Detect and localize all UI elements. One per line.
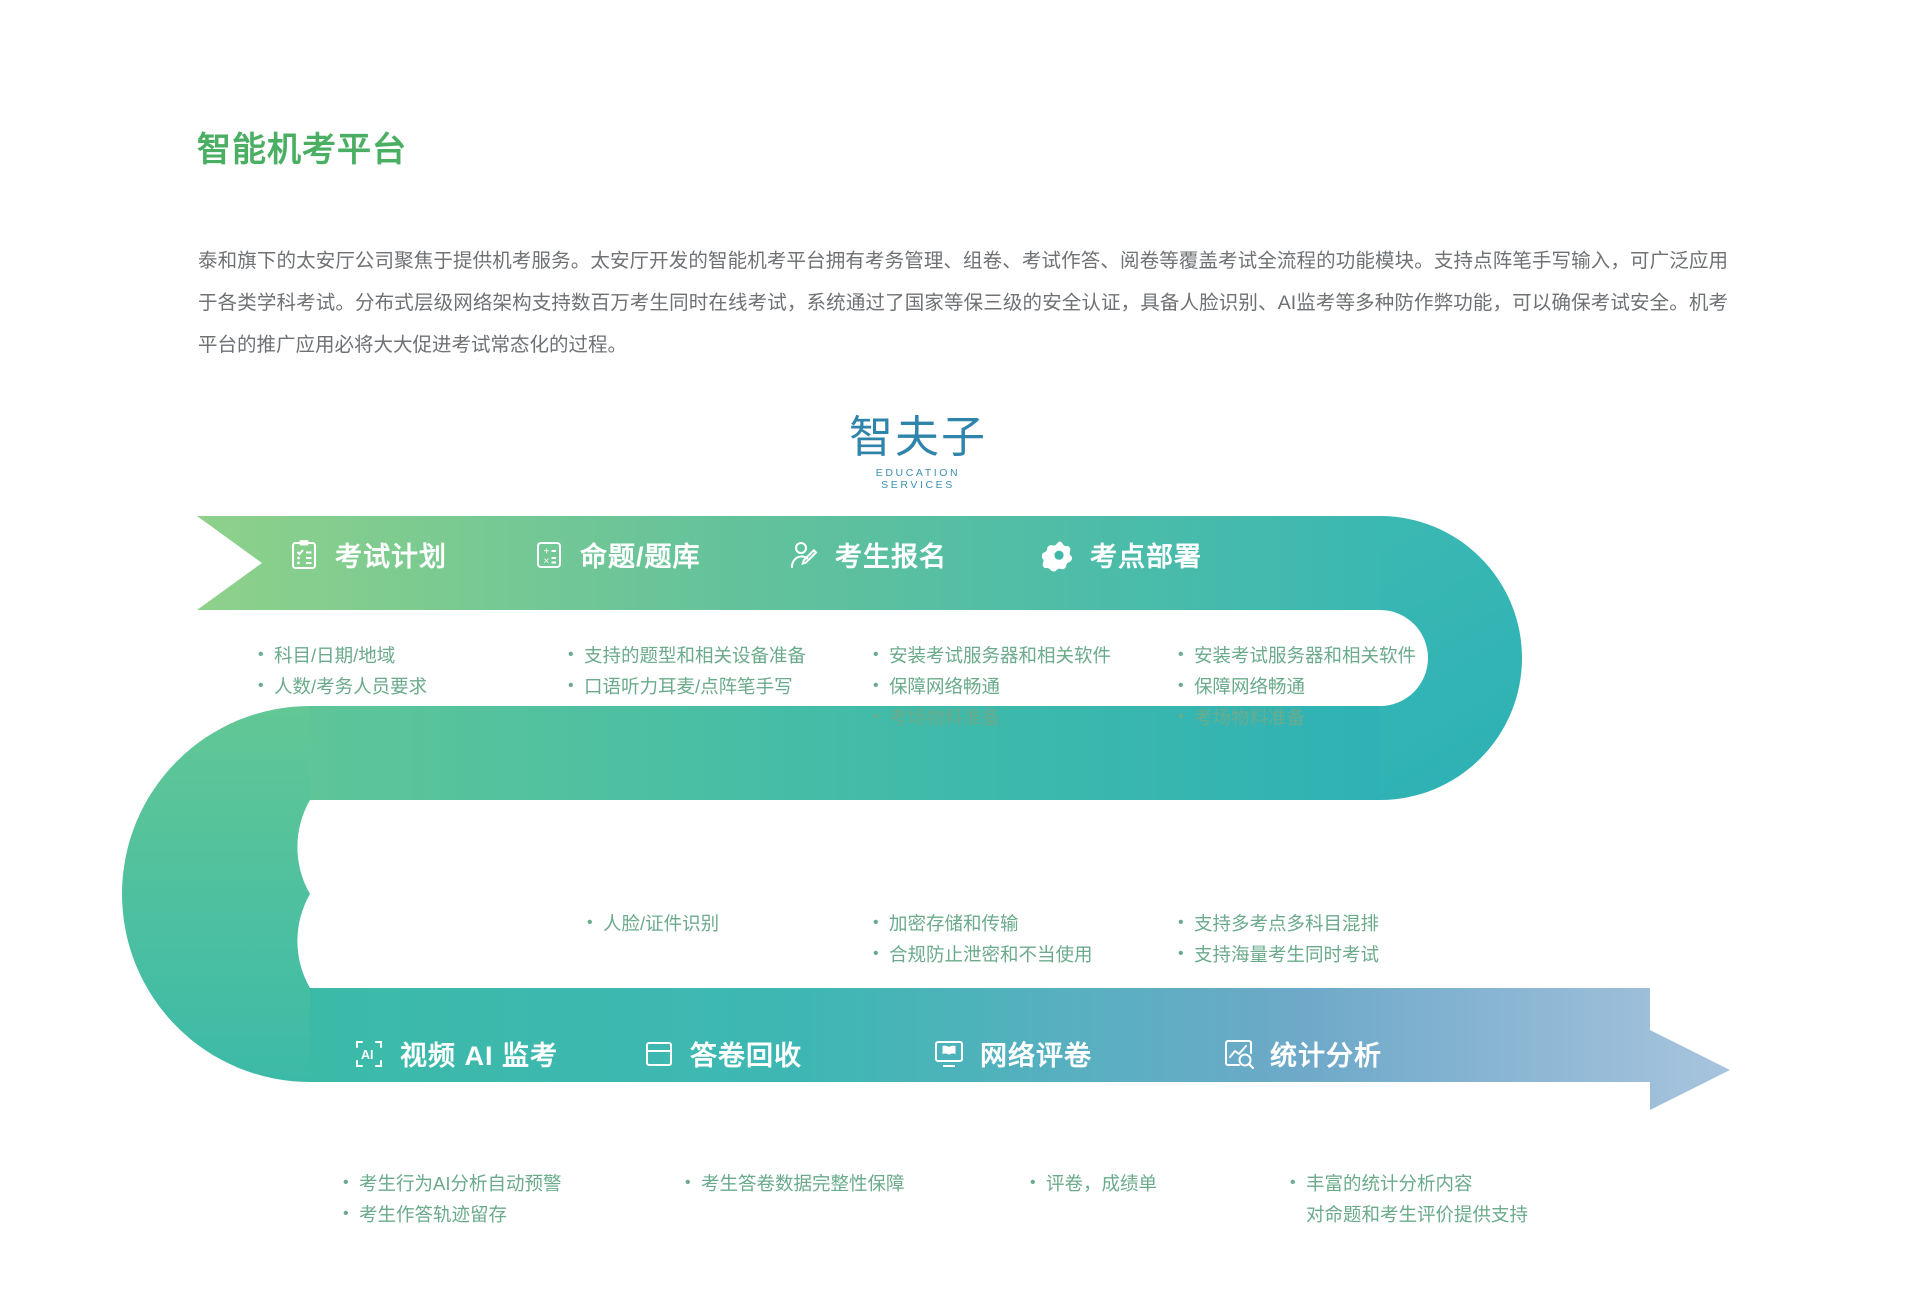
svg-text:AI: AI <box>361 1048 374 1062</box>
bullets-registration: 安装考试服务器和相关软件 保障网络畅通 考场物料准备 <box>873 640 1111 733</box>
step-header-room-arrange[interactable]: 考场编排 <box>1070 806 1325 845</box>
person-edit-icon <box>787 538 821 572</box>
step-label: 试题分发 <box>863 806 975 845</box>
step-label: 考试计划 <box>335 535 447 574</box>
bullets-entry: 人脸/证件识别 <box>587 908 719 939</box>
bullets-paper-collect: 考生答卷数据完整性保障 <box>685 1168 905 1199</box>
intro-paragraph: 泰和旗下的太安厅公司聚焦于提供机考服务。太安厅开发的智能机考平台拥有考务管理、组… <box>198 240 1728 366</box>
step-header-registration[interactable]: 考生报名 <box>787 535 1042 574</box>
infographic-page: 智能机考平台 泰和旗下的太安厅公司聚焦于提供机考服务。太安厅开发的智能机考平台拥… <box>0 0 1920 1292</box>
step-header-statistics[interactable]: 统计分析 <box>1222 1034 1482 1073</box>
step-label: 统计分析 <box>1270 1034 1382 1073</box>
flow-row-3-header: AI 视频 AI 监考 答卷回收 网络评卷 <box>352 1034 1482 1073</box>
step-label: 考生报名 <box>835 535 947 574</box>
bullets-item-bank: 支持的题型和相关设备准备 口语听力耳麦/点阵笔手写 <box>568 640 806 702</box>
monitor-book-icon <box>932 1037 966 1071</box>
chart-search-icon <box>1222 1037 1256 1071</box>
brand-logo: 智夫子 EDUCATION SERVICES <box>848 415 988 491</box>
bullets-site-deploy: 安装考试服务器和相关软件 保障网络畅通 考场物料准备 <box>1178 640 1416 733</box>
inbox-tray-icon <box>642 1037 676 1071</box>
bullets-ai-proctoring: 考生行为AI分析自动预警 考生作答轨迹留存 <box>343 1168 561 1230</box>
step-header-online-marking[interactable]: 网络评卷 <box>932 1034 1222 1073</box>
bullet-item: 考生答卷数据完整性保障 <box>685 1168 905 1199</box>
bullet-item: 安装考试服务器和相关软件 <box>873 640 1111 671</box>
bullets-paper-delivery: 加密存储和传输 合规防止泄密和不当使用 <box>873 908 1093 970</box>
bullet-item: 考生作答轨迹留存 <box>343 1199 561 1230</box>
gear-icon <box>1042 538 1076 572</box>
bullet-item: 科目/日期/地域 <box>258 640 427 671</box>
step-header-paper-delivery[interactable]: 试题分发 <box>815 806 1070 845</box>
bullet-item: 保障网络畅通 <box>873 671 1111 702</box>
person-walking-icon <box>560 809 594 843</box>
clipboard-checklist-icon <box>287 538 321 572</box>
bullet-item: 口语听力耳麦/点阵笔手写 <box>568 671 806 702</box>
document-pen-icon <box>315 809 349 843</box>
bullet-item: 人脸/证件识别 <box>587 908 719 939</box>
bullet-item: 支持海量考生同时考试 <box>1178 939 1379 970</box>
classroom-seats-icon <box>1070 809 1104 843</box>
page-title: 智能机考平台 <box>197 122 407 171</box>
calculator-icon: + × <box>532 538 566 572</box>
bullets-statistics: 丰富的统计分析内容 对命题和考生评价提供支持 <box>1290 1168 1528 1230</box>
step-label: 视频 AI 监考 <box>400 1034 558 1073</box>
scroll-paper-icon <box>815 809 849 843</box>
bullets-exam-plan: 科目/日期/地域 人数/考务人员要求 <box>258 640 427 702</box>
step-label: 答卷回收 <box>690 1034 802 1073</box>
bullet-item: 评卷，成绩单 <box>1030 1168 1157 1199</box>
step-label: 网络评卷 <box>980 1034 1092 1073</box>
flow-row-2-header: 考生作答 考生入场 试题分发 <box>315 806 1395 845</box>
bullet-item: 加密存储和传输 <box>873 908 1093 939</box>
flow-row-1-header: 考试计划 + × 命题/题库 考生报名 <box>287 535 1397 574</box>
step-header-site-deploy[interactable]: 考点部署 <box>1042 535 1297 574</box>
logo-wordmark: 智夫子 <box>848 415 988 461</box>
step-label: 考场编排 <box>1118 806 1230 845</box>
step-label: 考生入场 <box>608 806 720 845</box>
ai-bracket-icon: AI <box>352 1037 386 1071</box>
bullet-item: 丰富的统计分析内容 <box>1290 1168 1528 1199</box>
bullet-item: 人数/考务人员要求 <box>258 671 427 702</box>
bullet-item: 合规防止泄密和不当使用 <box>873 939 1093 970</box>
bullet-item: 考场物料准备 <box>1178 702 1416 733</box>
bullet-item: 考场物料准备 <box>873 702 1111 733</box>
step-header-item-bank[interactable]: + × 命题/题库 <box>532 535 787 574</box>
bullet-item: 支持的题型和相关设备准备 <box>568 640 806 671</box>
step-label: 考生作答 <box>363 806 475 845</box>
bullet-item: 考生行为AI分析自动预警 <box>343 1168 561 1199</box>
svg-text:×: × <box>544 556 550 567</box>
bullet-item: 支持多考点多科目混排 <box>1178 908 1379 939</box>
step-header-exam-plan[interactable]: 考试计划 <box>287 535 532 574</box>
logo-subtitle: EDUCATION SERVICES <box>848 467 988 491</box>
step-header-ai-proctoring[interactable]: AI 视频 AI 监考 <box>352 1034 642 1073</box>
bullet-item: 保障网络畅通 <box>1178 671 1416 702</box>
step-label: 命题/题库 <box>580 535 701 574</box>
step-header-answering[interactable]: 考生作答 <box>315 806 560 845</box>
bullet-item: 安装考试服务器和相关软件 <box>1178 640 1416 671</box>
step-header-entry[interactable]: 考生入场 <box>560 806 815 845</box>
step-label: 考点部署 <box>1090 535 1202 574</box>
bullets-online-marking: 评卷，成绩单 <box>1030 1168 1157 1199</box>
bullets-room-arrange: 支持多考点多科目混排 支持海量考生同时考试 <box>1178 908 1379 970</box>
bullet-item-continuation: 对命题和考生评价提供支持 <box>1290 1199 1528 1230</box>
step-header-paper-collect[interactable]: 答卷回收 <box>642 1034 932 1073</box>
